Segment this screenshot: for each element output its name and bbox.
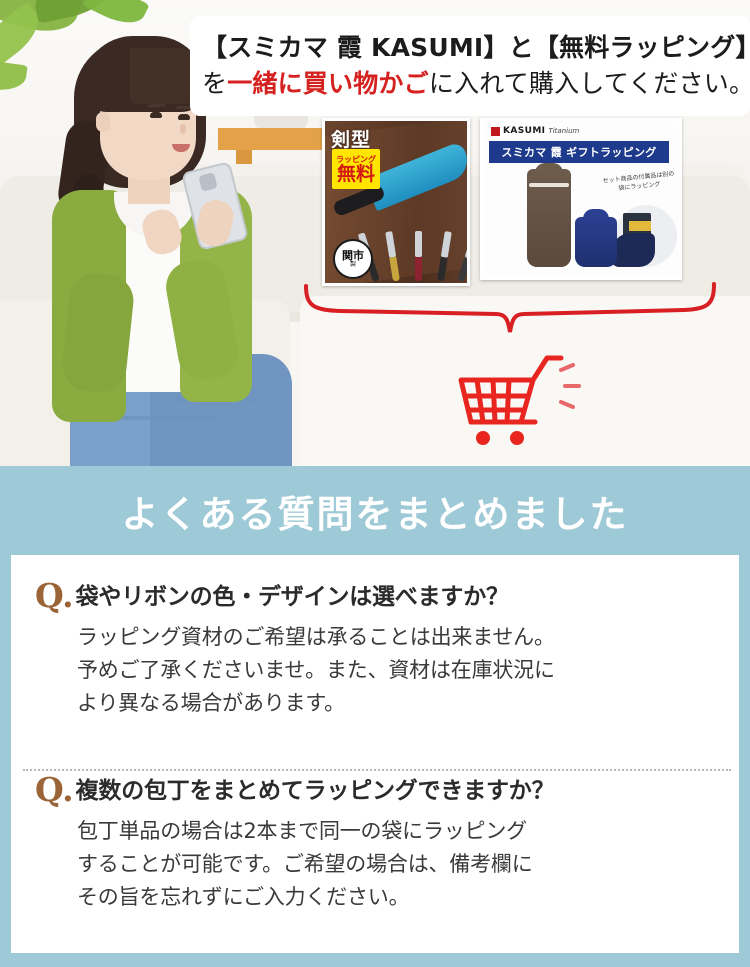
blue-gift-bag — [575, 217, 617, 267]
mini-knife — [415, 231, 422, 281]
sparkle-lines — [561, 365, 579, 407]
ear — [96, 112, 110, 132]
faq-answer: ラッピング資材のご希望は承ることは出来ません。 予めご了承くださいませ。また、資… — [35, 621, 721, 720]
faq-card: Q. 袋やリボンの色・デザインは選べますか？ ラッピング資材のご希望は承ることは… — [8, 552, 742, 956]
faq-question-text: 複数の包丁をまとめてラッピングできますか？ — [76, 773, 555, 809]
mini-knife — [457, 232, 470, 282]
mini-knife — [437, 231, 452, 281]
faq-answer-line: することが可能です。ご希望の場合は、備考欄に — [77, 848, 721, 881]
faq-question-row: Q. 複数の包丁をまとめてラッピングできますか？ — [35, 773, 721, 809]
kasumi-logo: KASUMI Titanium — [491, 126, 579, 136]
faq-answer-line: その旨を忘れずにご入力ください。 — [77, 881, 721, 914]
question-marker: Q. — [35, 579, 74, 613]
faq-item: Q. 複数の包丁をまとめてラッピングできますか？ 包丁単品の場合は2本まで同一の… — [11, 773, 745, 914]
badge-bottom-label: 無料 — [337, 164, 375, 184]
accessory-package-label — [629, 221, 651, 231]
headline-line-1: 【スミカマ 霞 KASUMI】と【無料ラッピング】 — [202, 30, 738, 66]
shopping-cart-icon — [455, 352, 585, 452]
eye — [178, 114, 190, 120]
faq-question-text: 袋やリボンの色・デザインは選べますか？ — [76, 579, 509, 615]
product-thumbnails: 剣型 ラッピング 無料 関市 製 KASUMI Titanium — [322, 118, 682, 290]
kasumi-brand-sub: Titanium — [548, 127, 579, 135]
faq-item: Q. 袋やリボンの色・デザインは選べますか？ ラッピング資材のご希望は承ることは… — [11, 579, 745, 720]
eye — [150, 112, 162, 118]
promo-page: 【スミカマ 霞 KASUMI】と【無料ラッピング】 を一緒に買い物かごに入れて購… — [0, 0, 750, 967]
faq-bottom-edge — [0, 956, 750, 967]
mini-knife — [385, 231, 400, 281]
faq-answer-line: 予めご了承くださいませ。また、資材は在庫状況に — [77, 654, 721, 687]
red-bracket-decoration — [300, 280, 720, 340]
seal-main-label: 関市 — [342, 250, 364, 261]
faq-banner-title: よくある質問をまとめました — [0, 484, 750, 538]
headline-bubble: 【スミカマ 霞 KASUMI】と【無料ラッピング】 を一緒に買い物かごに入れて購… — [190, 16, 750, 116]
kasumi-logo-square — [491, 127, 500, 136]
headline-suffix: に入れて購入してください。 — [429, 69, 750, 98]
thumbnail-knife[interactable]: 剣型 ラッピング 無料 関市 製 — [322, 118, 470, 286]
hero-section: 【スミカマ 霞 KASUMI】と【無料ラッピング】 を一緒に買い物かごに入れて購… — [0, 0, 750, 466]
cart-wheel — [476, 431, 490, 445]
faq-left-edge — [0, 552, 8, 967]
navy-cloth — [611, 233, 655, 267]
faq-question-row: Q. 袋やリボンの色・デザインは選べますか？ — [35, 579, 721, 615]
headline-line-2: を一緒に買い物かごに入れて購入してください。 — [202, 66, 738, 102]
knife-type-label: 剣型 — [331, 125, 371, 152]
faq-banner: よくある質問をまとめました — [0, 466, 750, 566]
cart-wheel — [510, 431, 524, 445]
faq-answer-line: 包丁単品の場合は2本まで同一の袋にラッピング — [77, 815, 721, 848]
faq-answer-line: より異なる場合があります。 — [77, 687, 721, 720]
headline-prefix: を — [202, 69, 227, 98]
nose — [180, 124, 186, 134]
free-wrapping-badge: ラッピング 無料 — [332, 149, 380, 189]
kasumi-brand-label: KASUMI — [503, 126, 545, 136]
faq-divider — [23, 769, 731, 771]
bag-ribbon-tie — [529, 183, 569, 187]
faq-answer-line: ラッピング資材のご希望は承ることは出来ません。 — [77, 621, 721, 654]
question-marker: Q. — [35, 773, 74, 807]
thumbnail-gift-wrapping[interactable]: KASUMI Titanium スミカマ 霞 ギフトラッピング セット商品の付属… — [480, 118, 682, 280]
wrapping-banner: スミカマ 霞 ギフトラッピング — [489, 141, 669, 163]
faq-answer: 包丁単品の場合は2本まで同一の袋にラッピング することが可能です。ご希望の場合は… — [35, 815, 721, 914]
wrapping-banner-label: スミカマ 霞 ギフトラッピング — [501, 144, 656, 160]
headline-highlight: 一緒に買い物かご — [227, 69, 429, 98]
seki-city-seal: 関市 製 — [333, 239, 373, 279]
knife-color-variants — [369, 227, 465, 283]
seal-sub-label: 製 — [350, 261, 356, 268]
